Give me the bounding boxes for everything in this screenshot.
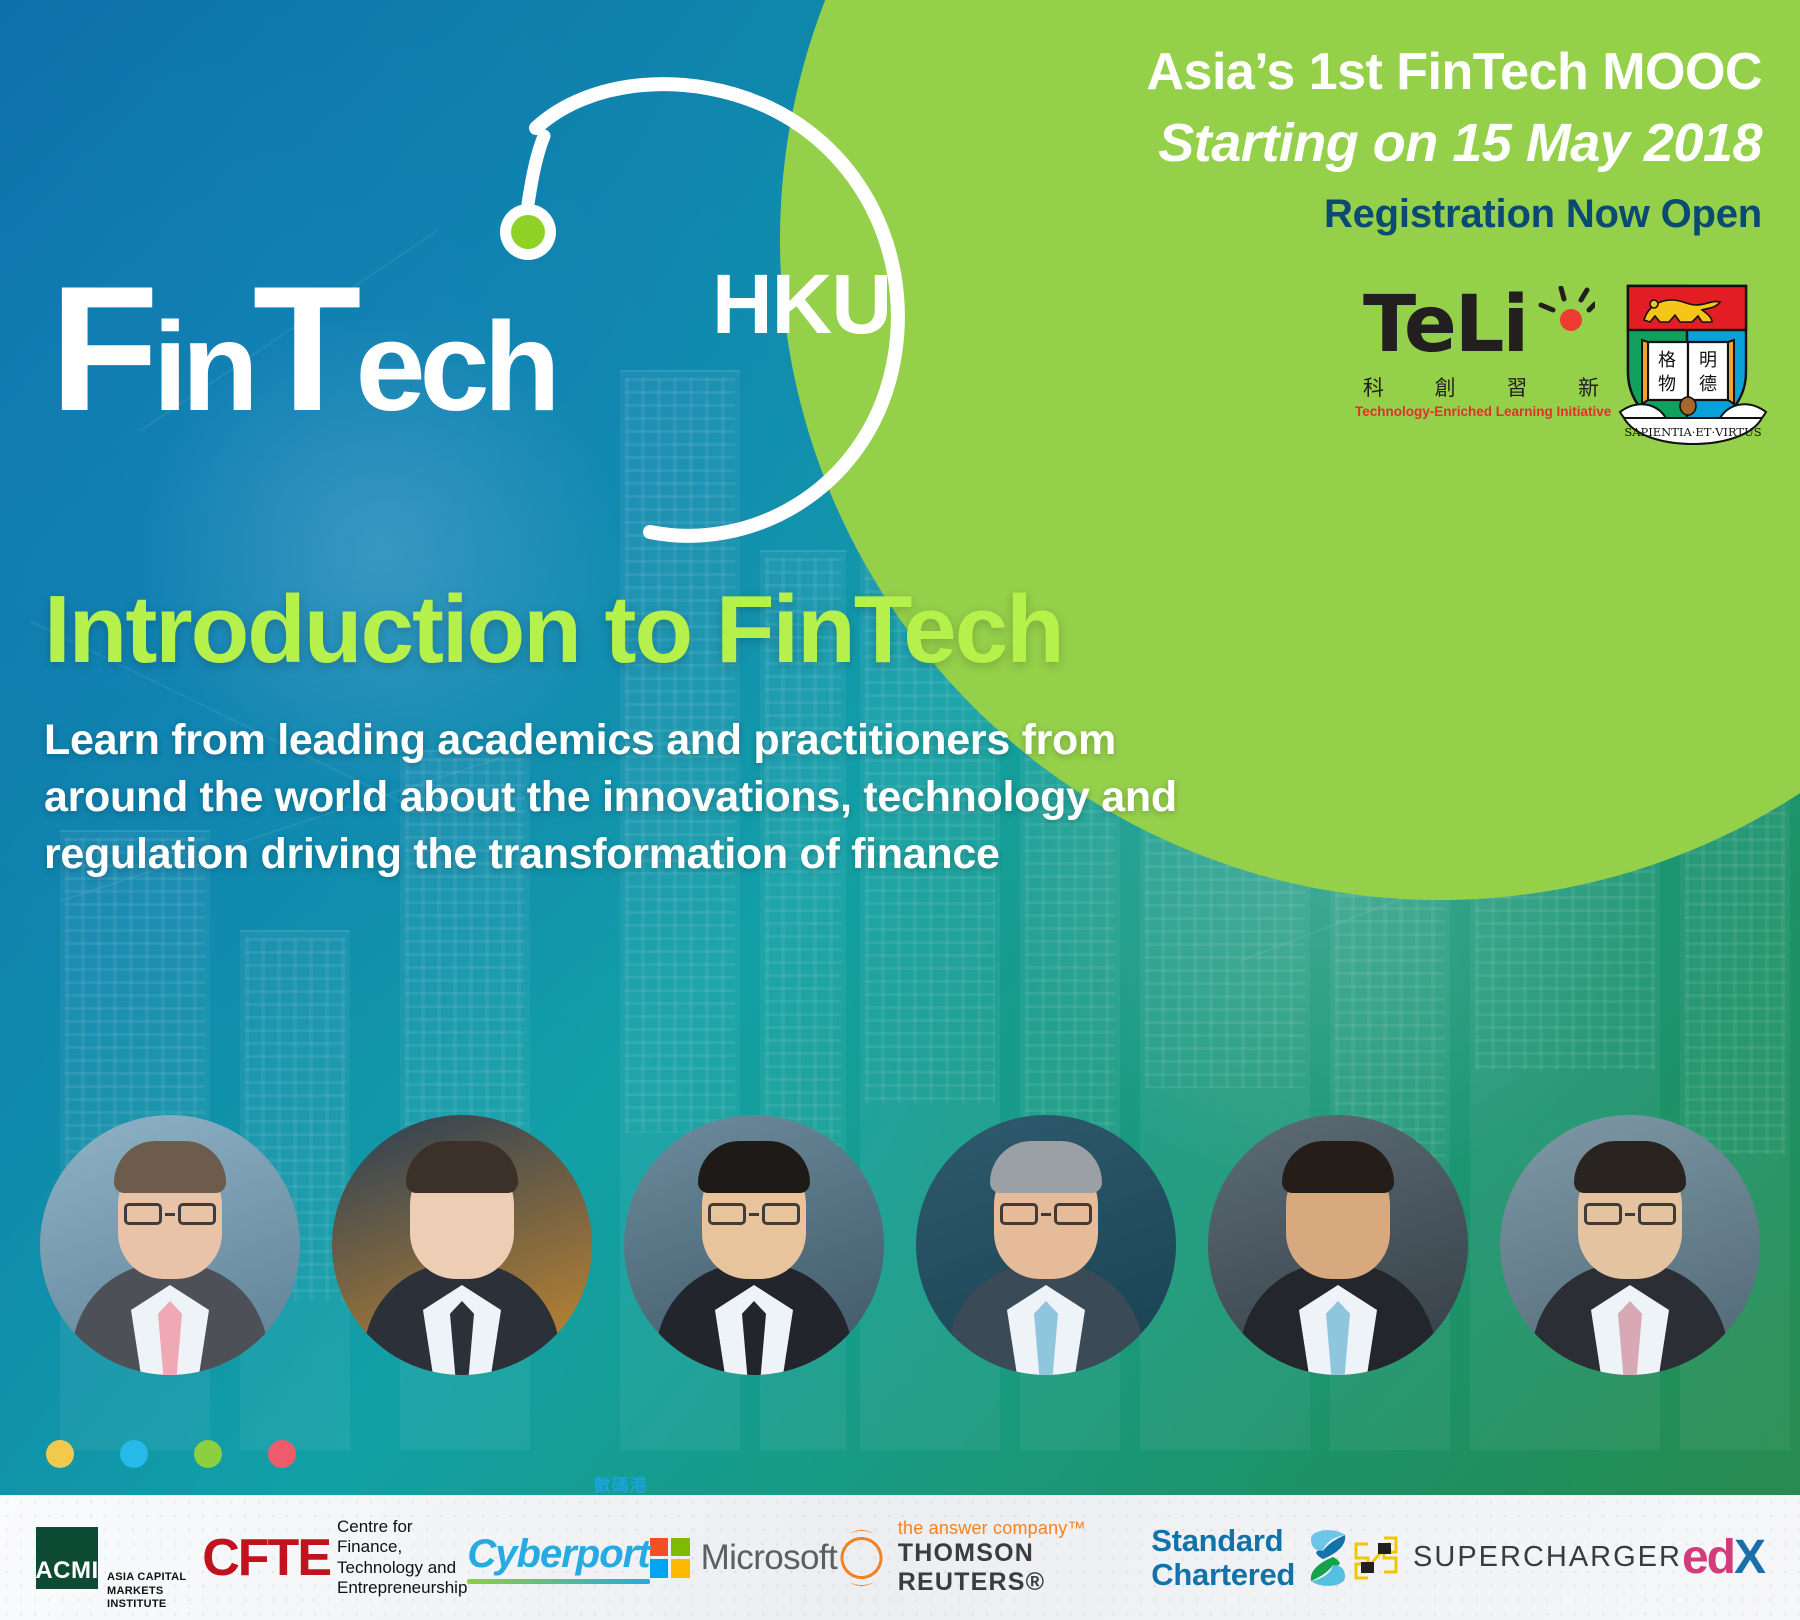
course-description: Learn from leading academics and practit… [44, 712, 1224, 882]
speaker-portrait [40, 1115, 300, 1375]
speaker-portrait [624, 1115, 884, 1375]
edx-wordmark: edX [1682, 1530, 1764, 1585]
cfte-mark: CFTE [202, 1528, 330, 1588]
decorative-dot-row [46, 1440, 296, 1468]
teli-logo: TeLi 科 創 習 新 Technology-Enriched Learnin… [1355, 282, 1605, 432]
fintech-course-poster: Asia’s 1st FinTech MOOC Starting on 15 M… [0, 0, 1800, 1620]
acmi-subtext: ASIA CAPITAL MARKETS INSTITUTE [107, 1571, 202, 1620]
dot-pink [268, 1440, 296, 1468]
glasses-icon [1000, 1203, 1092, 1225]
partner-logo-standard-chartered: Standard Chartered [1151, 1495, 1351, 1620]
dot-cyan [120, 1440, 148, 1468]
speaker-portrait [916, 1115, 1176, 1375]
dot-green [194, 1440, 222, 1468]
speaker-portrait-row [0, 1115, 1800, 1415]
partner-logo-acmi: ACMI ASIA CAPITAL MARKETS INSTITUTE [36, 1495, 202, 1620]
glasses-icon [1584, 1203, 1676, 1225]
speaker-portrait [1208, 1115, 1468, 1375]
fintech-logo: FinTech HKU [40, 60, 970, 580]
dot-yellow [46, 1440, 74, 1468]
glasses-icon [708, 1203, 800, 1225]
acmi-mark: ACMI [36, 1527, 98, 1589]
thomson-reuters-dots-icon [837, 1530, 886, 1586]
teli-chinese-row: 科 創 習 新 [1363, 372, 1599, 402]
speaker-portrait [332, 1115, 592, 1375]
fintech-wordmark: FinTech [50, 260, 555, 438]
standard-chartered-wordmark: Standard Chartered [1151, 1524, 1295, 1591]
header-line-3: Registration Now Open [1324, 192, 1762, 237]
partner-logo-cyberport: 數碼港 Cyberport [467, 1495, 649, 1620]
supercharger-mark-icon [1351, 1533, 1401, 1583]
teli-wordmark: TeLi [1363, 288, 1527, 362]
cyberport-wordmark: Cyberport [467, 1532, 649, 1577]
microsoft-squares-icon [650, 1538, 690, 1578]
teli-char-4: 新 [1578, 372, 1599, 402]
crest-banner-text: SAPIENTIA·ET·VIRTUS [1624, 425, 1761, 439]
cfte-subtext: Centre for Finance, Technology and Entre… [337, 1517, 467, 1597]
thomson-reuters-wordmark: THOMSON REUTERS® [898, 1539, 1152, 1597]
standard-chartered-mark-icon [1305, 1527, 1351, 1589]
microsoft-wordmark: Microsoft [701, 1538, 838, 1578]
partner-logo-cfte: CFTE Centre for Finance, Technology and … [202, 1495, 467, 1620]
svg-text:明: 明 [1699, 350, 1717, 371]
cyberport-underline [467, 1579, 649, 1584]
teli-tagline: Technology-Enriched Learning Initiative [1355, 404, 1605, 419]
partner-logo-supercharger: SUPERCHARGER [1351, 1495, 1682, 1620]
speaker-portrait [1500, 1115, 1760, 1375]
teli-char-1: 科 [1363, 372, 1384, 402]
teli-spark-icon [1531, 286, 1595, 342]
glasses-icon [124, 1203, 216, 1225]
hku-crest-icon: 格 物 明 德 SAPIENTIA·ET·VIRTUS [1618, 278, 1768, 446]
svg-text:物: 物 [1658, 374, 1676, 395]
page-title: Introduction to FinTech [44, 575, 1063, 685]
fintech-logo-hku-label: HKU [712, 256, 891, 353]
partner-logo-bar: ACMI ASIA CAPITAL MARKETS INSTITUTE CFTE… [0, 1495, 1800, 1620]
teli-char-2: 創 [1435, 372, 1456, 402]
partner-logo-microsoft: Microsoft [650, 1495, 838, 1620]
header-line-2: Starting on 15 May 2018 [1158, 112, 1762, 174]
partner-logo-thomson-reuters: the answer company™ THOMSON REUTERS® [837, 1495, 1151, 1620]
cyberport-chinese: 數碼港 [594, 1471, 648, 1496]
header-line-1: Asia’s 1st FinTech MOOC [1146, 42, 1762, 102]
teli-char-3: 習 [1506, 372, 1527, 402]
svg-text:格: 格 [1658, 350, 1676, 371]
supercharger-wordmark: SUPERCHARGER [1413, 1541, 1682, 1574]
partner-logo-edx: edX [1682, 1495, 1764, 1620]
svg-text:德: 德 [1699, 374, 1717, 395]
thomson-reuters-tagline: the answer company™ [898, 1518, 1152, 1539]
